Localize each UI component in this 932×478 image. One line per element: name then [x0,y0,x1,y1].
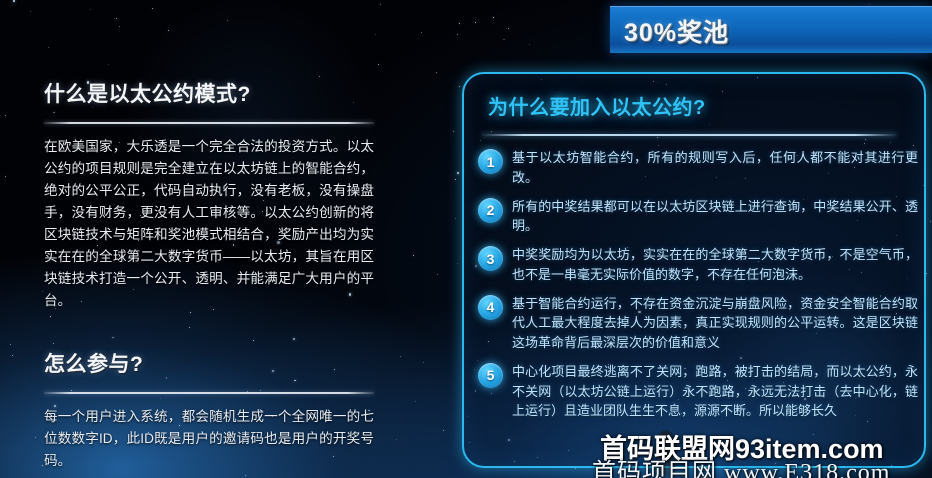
reason-text: 基于以太坊智能合约，所有的规则写入后，任何人都不能对其进行更改。 [512,148,918,188]
reason-list: 1基于以太坊智能合约，所有的规则写入后，任何人都不能对其进行更改。2所有的中奖结… [478,148,918,430]
reason-number-badge: 5 [478,363,503,388]
pool-banner: 30%奖池 [610,6,932,53]
why-join-panel: 为什么要加入以太公约? 1基于以太坊智能合约，所有的规则写入后，任何人都不能对其… [462,72,926,468]
section-divider-1 [44,122,374,124]
left-section-what-is: 什么是以太公约模式? 在欧美国家，大乐透是一个完全合法的投资方式。以太公约的项目… [44,78,374,312]
section-body-what-is: 在欧美国家，大乐透是一个完全合法的投资方式。以太公约的项目规则是完全建立在以太坊… [44,136,374,312]
reason-number-badge: 1 [478,149,503,174]
reason-text: 所有的中奖结果都可以在以太坊区块链上进行查询，中奖结果公开、透明。 [512,197,918,237]
panel-divider [482,134,896,136]
reason-text: 基于智能合约运行，不存在资金沉淀与崩盘风险，资金安全智能合约取代人工最大程度去掉… [512,294,918,353]
reason-text: 中奖奖励均为以太坊，实实在在的全球第二大数字货币，不是空气币，也不是一串毫无实际… [512,245,918,285]
reason-number-badge: 3 [478,246,503,271]
reason-text: 中心化项目最终逃离不了关网，跑路，被打击的结局，而以太公约，永不关网（以太坊公链… [512,362,918,421]
pool-banner-label: 30%奖池 [624,13,729,49]
reason-item: 1基于以太坊智能合约，所有的规则写入后，任何人都不能对其进行更改。 [478,148,918,188]
reason-item: 3中奖奖励均为以太坊，实实在在的全球第二大数字货币，不是空气币，也不是一串毫无实… [478,245,918,285]
left-section-how-to-join: 怎么参与? 每一个用户进入系统，都会随机生成一个全网唯一的七位数数字ID，此ID… [44,348,374,472]
section-divider-2 [44,392,374,394]
reason-item: 5中心化项目最终逃离不了关网，跑路，被打击的结局，而以太公约，永不关网（以太坊公… [478,362,918,421]
left-column: 什么是以太公约模式? 在欧美国家，大乐透是一个完全合法的投资方式。以太公约的项目… [44,78,374,472]
section-title-what-is: 什么是以太公约模式? [44,78,374,108]
reason-item: 2所有的中奖结果都可以在以太坊区块链上进行查询，中奖结果公开、透明。 [478,197,918,237]
reason-number-badge: 4 [478,295,503,320]
slide-canvas: 30%奖池 什么是以太公约模式? 在欧美国家，大乐透是一个完全合法的投资方式。以… [0,0,932,478]
reason-item: 4基于智能合约运行，不存在资金沉淀与崩盘风险，资金安全智能合约取代人工最大程度去… [478,294,918,353]
section-body-how-to-join: 每一个用户进入系统，都会随机生成一个全网唯一的七位数数字ID，此ID既是用户的邀… [44,406,374,472]
reason-number-badge: 2 [478,198,503,223]
panel-title-why-join: 为什么要加入以太公约? [488,91,706,120]
section-title-how-to-join: 怎么参与? [44,348,374,378]
